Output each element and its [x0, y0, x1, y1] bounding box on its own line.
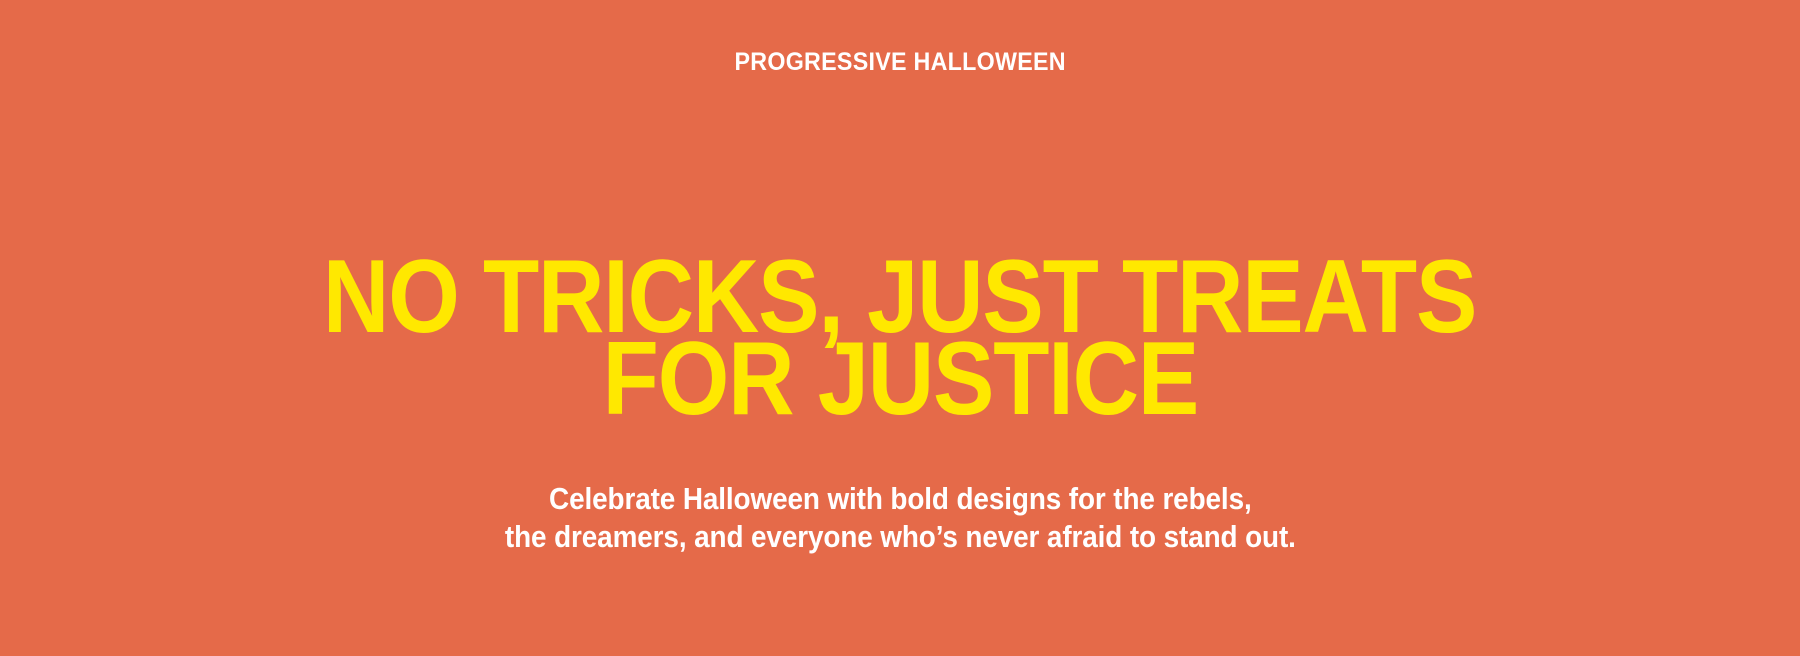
eyebrow-kicker: PROGRESSIVE HALLOWEEN: [0, 50, 1800, 75]
subhead-line-2: the dreamers, and everyone who’s never a…: [0, 518, 1800, 556]
subhead-line-2-text: the dreamers, and everyone who’s never a…: [505, 518, 1296, 556]
hero-banner: PROGRESSIVE HALLOWEEN NO TRICKS, JUST TR…: [0, 0, 1800, 656]
subhead-line-1: Celebrate Halloween with bold designs fo…: [0, 480, 1800, 518]
headline: NO TRICKS, JUST TREATS FOR JUSTICE: [0, 256, 1800, 421]
headline-line-2-text: FOR JUSTICE: [602, 338, 1197, 421]
eyebrow-text: PROGRESSIVE HALLOWEEN: [734, 50, 1065, 75]
headline-line-2: FOR JUSTICE: [0, 338, 1800, 421]
subhead: Celebrate Halloween with bold designs fo…: [0, 480, 1800, 555]
subhead-line-1-text: Celebrate Halloween with bold designs fo…: [549, 480, 1252, 518]
